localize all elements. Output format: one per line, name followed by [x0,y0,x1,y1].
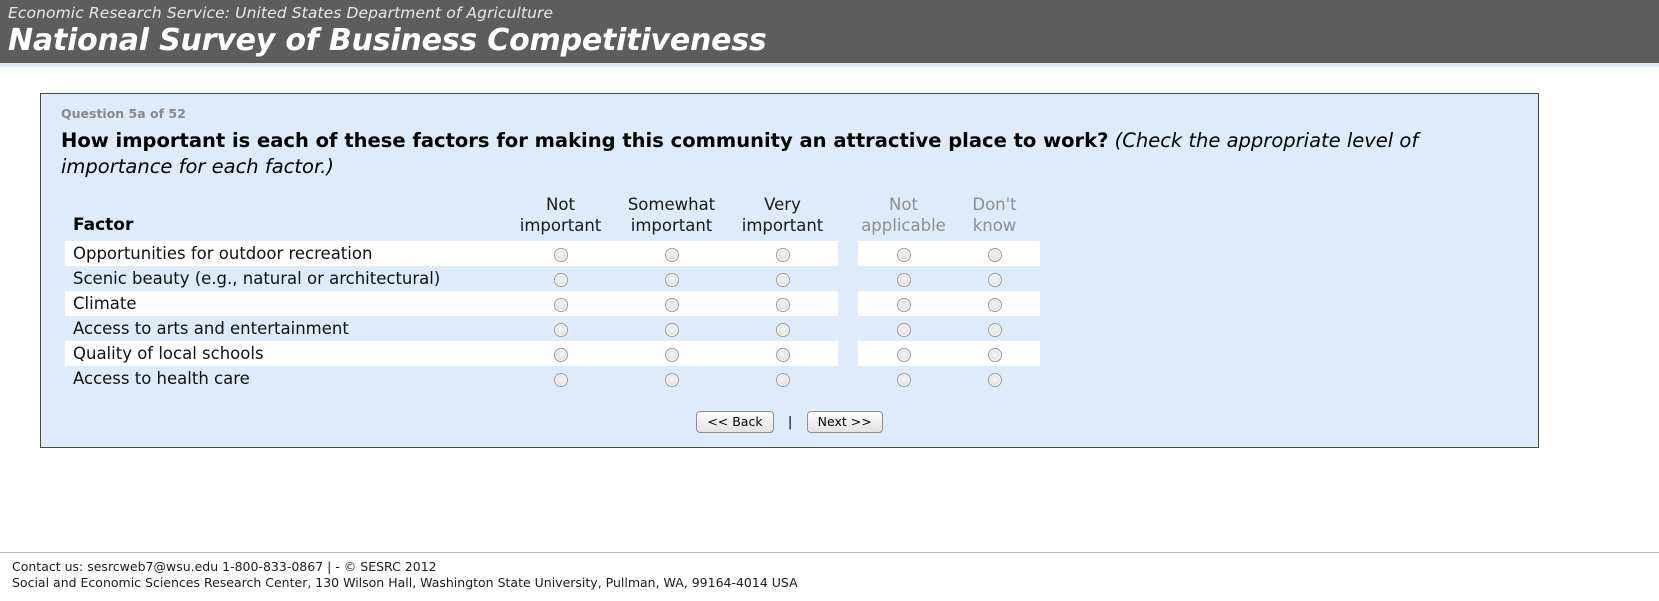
col-line1: Very [764,195,801,214]
radio-cell[interactable] [616,341,727,366]
factor-label: Access to health care [65,366,505,391]
table-row: Opportunities for outdoor recreation [65,241,1040,266]
column-header-somewhat-important: Somewhat important [616,194,727,241]
radio-cell[interactable] [858,266,949,291]
radio-cell[interactable] [727,316,838,341]
radio-button-icon[interactable] [897,273,911,287]
radio-cell[interactable] [949,316,1040,341]
row-gap-spacer [838,316,858,341]
radio-button-icon[interactable] [665,348,679,362]
table-row: Climate [65,291,1040,316]
row-gap-spacer [838,241,858,266]
radio-button-icon[interactable] [554,273,568,287]
radio-button-icon[interactable] [776,323,790,337]
table-row: Access to arts and entertainment [65,316,1040,341]
radio-button-icon[interactable] [554,298,568,312]
radio-button-icon[interactable] [776,248,790,262]
radio-cell[interactable] [505,316,616,341]
importance-matrix: Factor Not important Somewhat important … [65,194,1040,391]
col-line1: Not [889,195,918,214]
radio-cell[interactable] [727,291,838,316]
factor-label: Opportunities for outdoor recreation [65,241,505,266]
question-bold-text: How important is each of these factors f… [61,129,1108,152]
back-button[interactable]: << Back [696,411,773,433]
col-line1: Don't [972,195,1016,214]
row-gap-spacer [838,341,858,366]
radio-button-icon[interactable] [665,373,679,387]
radio-button-icon[interactable] [988,323,1002,337]
site-title: National Survey of Business Competitiven… [8,23,1659,59]
radio-cell[interactable] [616,366,727,391]
footer-contact-line: Contact us: sesrcweb7@wsu.edu 1-800-833-… [12,559,1659,575]
col-line1: Somewhat [628,195,715,214]
radio-cell[interactable] [505,266,616,291]
column-header-not-applicable: Not applicable [858,194,949,241]
radio-button-icon[interactable] [554,323,568,337]
radio-cell[interactable] [616,266,727,291]
column-header-dont-know: Don't know [949,194,1040,241]
radio-button-icon[interactable] [897,323,911,337]
agency-line: Economic Research Service: United States… [8,4,1659,22]
radio-button-icon[interactable] [776,273,790,287]
col-line2: know [973,216,1017,235]
site-header: Economic Research Service: United States… [0,0,1659,63]
navigation-bar: << Back | Next >> [41,411,1538,433]
row-gap-spacer [838,366,858,391]
col-line2: important [742,216,824,235]
table-row: Quality of local schools [65,341,1040,366]
radio-button-icon[interactable] [897,348,911,362]
radio-cell[interactable] [727,241,838,266]
radio-cell[interactable] [858,241,949,266]
radio-cell[interactable] [949,291,1040,316]
radio-cell[interactable] [505,366,616,391]
factor-label: Access to arts and entertainment [65,316,505,341]
table-row: Scenic beauty (e.g., natural or architec… [65,266,1040,291]
radio-cell[interactable] [616,316,727,341]
radio-button-icon[interactable] [776,373,790,387]
radio-button-icon[interactable] [776,348,790,362]
matrix-body: Opportunities for outdoor recreationScen… [65,241,1040,391]
radio-button-icon[interactable] [665,298,679,312]
radio-cell[interactable] [616,241,727,266]
radio-cell[interactable] [949,341,1040,366]
col-line1: Not [546,195,575,214]
factor-label: Quality of local schools [65,341,505,366]
col-line2: applicable [861,216,946,235]
next-button[interactable]: Next >> [807,411,883,433]
column-gap-spacer [838,194,858,241]
radio-cell[interactable] [727,266,838,291]
column-header-not-important: Not important [505,194,616,241]
radio-cell[interactable] [505,241,616,266]
column-header-factor: Factor [65,194,505,241]
radio-button-icon[interactable] [665,248,679,262]
radio-cell[interactable] [505,291,616,316]
radio-button-icon[interactable] [665,273,679,287]
radio-cell[interactable] [949,366,1040,391]
question-text: How important is each of these factors f… [41,122,1538,180]
radio-cell[interactable] [858,341,949,366]
radio-button-icon[interactable] [554,248,568,262]
radio-cell[interactable] [727,341,838,366]
factor-label: Climate [65,291,505,316]
matrix-header-row: Factor Not important Somewhat important … [65,194,1040,241]
footer-address-line: Social and Economic Sciences Research Ce… [12,575,1659,591]
radio-button-icon[interactable] [897,298,911,312]
col-line2: important [631,216,713,235]
page-footer: Contact us: sesrcweb7@wsu.edu 1-800-833-… [0,552,1659,601]
radio-button-icon[interactable] [988,298,1002,312]
radio-button-icon[interactable] [776,298,790,312]
radio-cell[interactable] [616,291,727,316]
row-gap-spacer [838,266,858,291]
radio-cell[interactable] [949,266,1040,291]
row-gap-spacer [838,291,858,316]
radio-cell[interactable] [727,366,838,391]
radio-button-icon[interactable] [988,273,1002,287]
table-row: Access to health care [65,366,1040,391]
radio-cell[interactable] [858,316,949,341]
radio-button-icon[interactable] [897,373,911,387]
radio-cell[interactable] [858,291,949,316]
radio-button-icon[interactable] [988,248,1002,262]
nav-separator: | [778,415,803,430]
radio-button-icon[interactable] [554,373,568,387]
radio-button-icon[interactable] [897,248,911,262]
question-counter: Question 5a of 52 [41,106,1538,122]
radio-cell[interactable] [949,241,1040,266]
radio-cell[interactable] [858,366,949,391]
radio-button-icon[interactable] [988,348,1002,362]
question-panel: Question 5a of 52 How important is each … [40,93,1539,448]
col-line2: important [520,216,602,235]
content-area: Question 5a of 52 How important is each … [0,67,1659,448]
radio-button-icon[interactable] [554,348,568,362]
radio-cell[interactable] [505,341,616,366]
radio-button-icon[interactable] [665,323,679,337]
column-header-very-important: Very important [727,194,838,241]
radio-button-icon[interactable] [988,373,1002,387]
factor-label: Scenic beauty (e.g., natural or architec… [65,266,505,291]
